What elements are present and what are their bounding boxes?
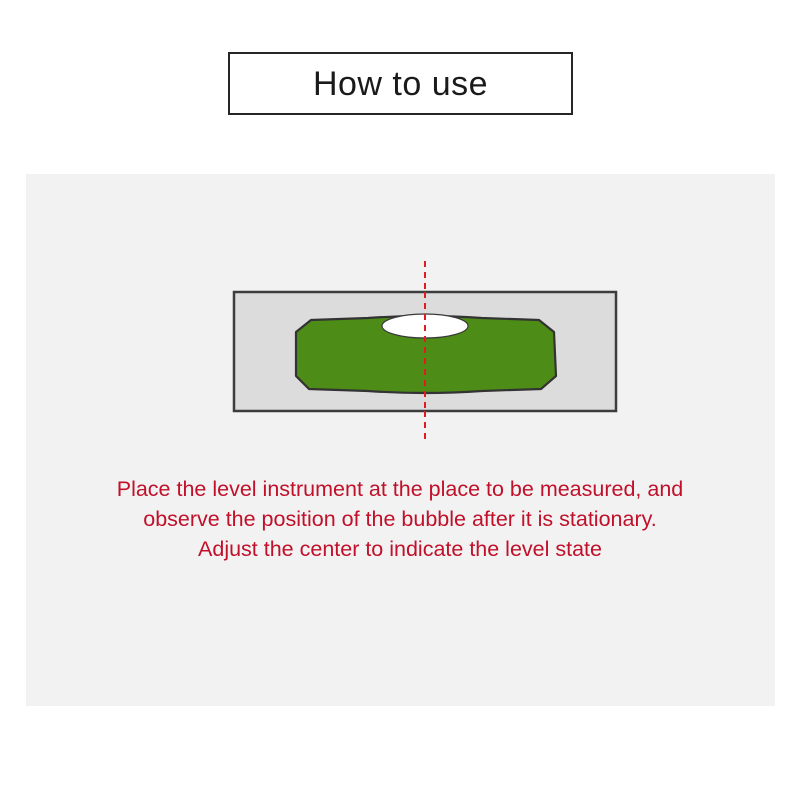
page-title: How to use	[313, 67, 488, 101]
caption-line-2: observe the position of the bubble after…	[70, 504, 730, 534]
caption-line-1: Place the level instrument at the place …	[70, 474, 730, 504]
title-box: How to use	[228, 52, 573, 115]
bubble-level-diagram	[208, 252, 648, 452]
content-panel: Place the level instrument at the place …	[26, 174, 775, 706]
caption-line-3: Adjust the center to indicate the level …	[70, 534, 730, 564]
page-canvas: How to use Place the level in	[0, 0, 800, 800]
instruction-caption: Place the level instrument at the place …	[70, 474, 730, 564]
